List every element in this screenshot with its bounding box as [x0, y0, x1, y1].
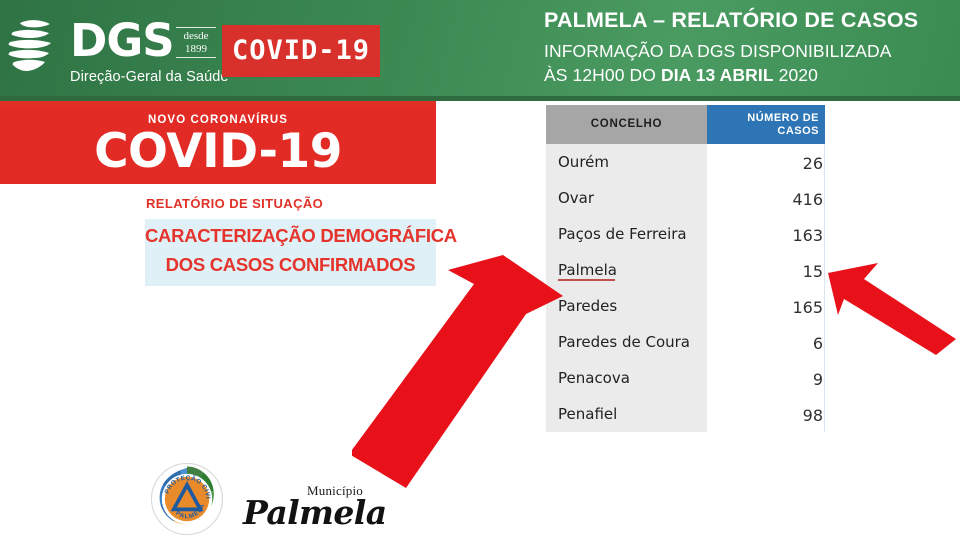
- table-cell-casos: 165: [707, 288, 823, 324]
- table-cell-casos: 163: [707, 216, 823, 252]
- dgs-since-label: desde: [176, 30, 216, 43]
- subtitle-time-prefix: ÀS 12H00 DO: [544, 65, 661, 85]
- table-cell-concelho: Paços de Ferreira: [558, 216, 687, 252]
- table-cell-concelho: Penacova: [558, 360, 630, 396]
- dgs-logo: DGS desde 1899 Direção-Geral da Saúde: [8, 19, 213, 85]
- slide-canvas: DGS desde 1899 Direção-Geral da Saúde CO…: [0, 0, 960, 540]
- page-subtitle: INFORMAÇÃO DA DGS DISPONIBILIZADA ÀS 12H…: [544, 39, 892, 87]
- dgs-since-block: desde 1899: [176, 27, 216, 58]
- report-title: COVID-19: [0, 125, 436, 179]
- protecao-civil-palmela-logo: PROTEÇÃO CIVIL PALMELA: [150, 462, 224, 536]
- page-subtitle-line1: INFORMAÇÃO DA DGS DISPONIBILIZADA: [544, 39, 892, 63]
- dgs-since-year: 1899: [176, 43, 216, 56]
- dgs-subtitle: Direção-Geral da Saúde: [70, 69, 229, 85]
- red-arrow-up-right-icon: [352, 254, 567, 489]
- palmela-label: Palmela: [243, 495, 386, 531]
- red-arrow-up-left-icon: [826, 255, 958, 355]
- table-row-palmela[interactable]: Palmela 15: [546, 252, 825, 288]
- table-cell-concelho: Ovar: [558, 180, 594, 216]
- subtitle-date: DIA 13 ABRIL: [661, 65, 774, 85]
- table-cell-casos: 9: [707, 360, 823, 396]
- subtitle-year: 2020: [774, 65, 818, 85]
- table-cell-concelho: Paredes de Coura: [558, 324, 690, 360]
- table-row[interactable]: Ourém 26: [546, 144, 825, 180]
- table-cell-casos: 98: [707, 396, 823, 432]
- table-row[interactable]: Ovar 416: [546, 180, 825, 216]
- globe-icon: [8, 19, 68, 75]
- report-section-label: RELATÓRIO DE SITUAÇÃO: [146, 196, 323, 211]
- covid19-header-badge: COVID-19: [222, 25, 380, 77]
- table-header-numero-casos-line1: NÚMERO DE: [747, 112, 819, 125]
- report-highlight-line-1: CARACTERIZAÇÃO DEMOGRÁFICA: [145, 225, 436, 247]
- table-header-numero-casos: NÚMERO DE CASOS: [707, 105, 825, 144]
- covid19-report-banner: NOVO CORONAVÍRUS COVID-19: [0, 105, 436, 184]
- table-row[interactable]: Penafiel 98: [546, 396, 825, 432]
- table-cell-casos: 15: [707, 252, 823, 288]
- table-cell-casos: 26: [707, 144, 823, 180]
- table-header-row: CONCELHO NÚMERO DE CASOS: [546, 105, 825, 144]
- municipio-palmela-wordmark: Município Palmela: [243, 483, 383, 533]
- table-cell-casos: 416: [707, 180, 823, 216]
- table-header-concelho: CONCELHO: [546, 105, 707, 144]
- table-row[interactable]: Paredes de Coura 6: [546, 324, 825, 360]
- covid19-header-badge-label: COVID-19: [222, 25, 380, 77]
- table-header-numero-casos-line2: CASOS: [777, 125, 819, 138]
- page-subtitle-line2: ÀS 12H00 DO DIA 13 ABRIL 2020: [544, 63, 892, 87]
- table-cell-casos: 6: [707, 324, 823, 360]
- dgs-wordmark: DGS: [70, 17, 174, 65]
- page-header: DGS desde 1899 Direção-Geral da Saúde CO…: [0, 0, 960, 101]
- table-row[interactable]: Paredes 165: [546, 288, 825, 324]
- cases-table: CONCELHO NÚMERO DE CASOS: [546, 105, 825, 144]
- page-title: PALMELA – RELATÓRIO DE CASOS: [544, 8, 918, 33]
- table-cell-concelho: Ourém: [558, 144, 609, 180]
- table-row[interactable]: Paços de Ferreira 163: [546, 216, 825, 252]
- table-row[interactable]: Penacova 9: [546, 360, 825, 396]
